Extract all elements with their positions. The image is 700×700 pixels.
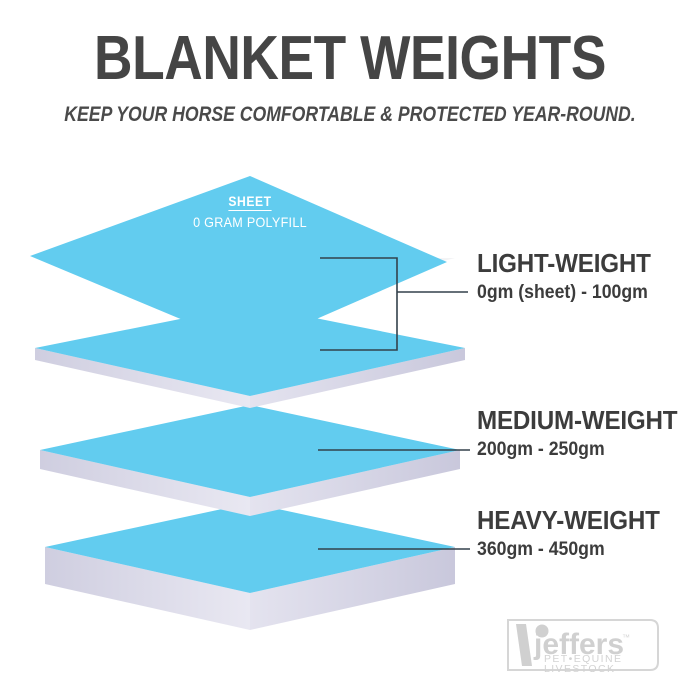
layer-medium-face bbox=[40, 405, 460, 497]
label-light-weight-title: LIGHT-WEIGHT bbox=[477, 250, 651, 277]
label-light-weight: LIGHT-WEIGHT 0gm (sheet) - 100gm bbox=[477, 250, 664, 303]
label-heavy-weight: HEAVY-WEIGHT 360gm - 450gm bbox=[477, 507, 673, 560]
label-heavy-weight-range: 360gm - 450gm bbox=[477, 534, 660, 560]
label-medium-weight-title: MEDIUM-WEIGHT bbox=[477, 407, 677, 434]
label-heavy-weight-title: HEAVY-WEIGHT bbox=[477, 507, 660, 534]
label-light-weight-range: 0gm (sheet) - 100gm bbox=[477, 277, 651, 303]
jeffers-logo: jeffers ™ PET•EQUINE LIVESTOCK bbox=[500, 614, 680, 676]
infographic-poster: BLANKET WEIGHTS KEEP YOUR HORSE COMFORTA… bbox=[0, 0, 700, 700]
blanket-layer-stack bbox=[0, 0, 700, 700]
logo-j-bar bbox=[516, 624, 532, 666]
logo-tagline-2: LIVESTOCK bbox=[544, 663, 615, 675]
label-medium-weight: MEDIUM-WEIGHT 200gm - 250gm bbox=[477, 407, 692, 460]
label-medium-weight-range: 200gm - 250gm bbox=[477, 434, 677, 460]
sheet-caption: SHEET 0 GRAM POLYFILL bbox=[160, 193, 340, 230]
sheet-caption-fill: 0 GRAM POLYFILL bbox=[160, 215, 340, 230]
sheet-caption-name: SHEET bbox=[228, 195, 271, 211]
logo-trademark: ™ bbox=[622, 633, 630, 642]
layer-heavy bbox=[45, 503, 455, 630]
layer-medium bbox=[40, 405, 460, 516]
